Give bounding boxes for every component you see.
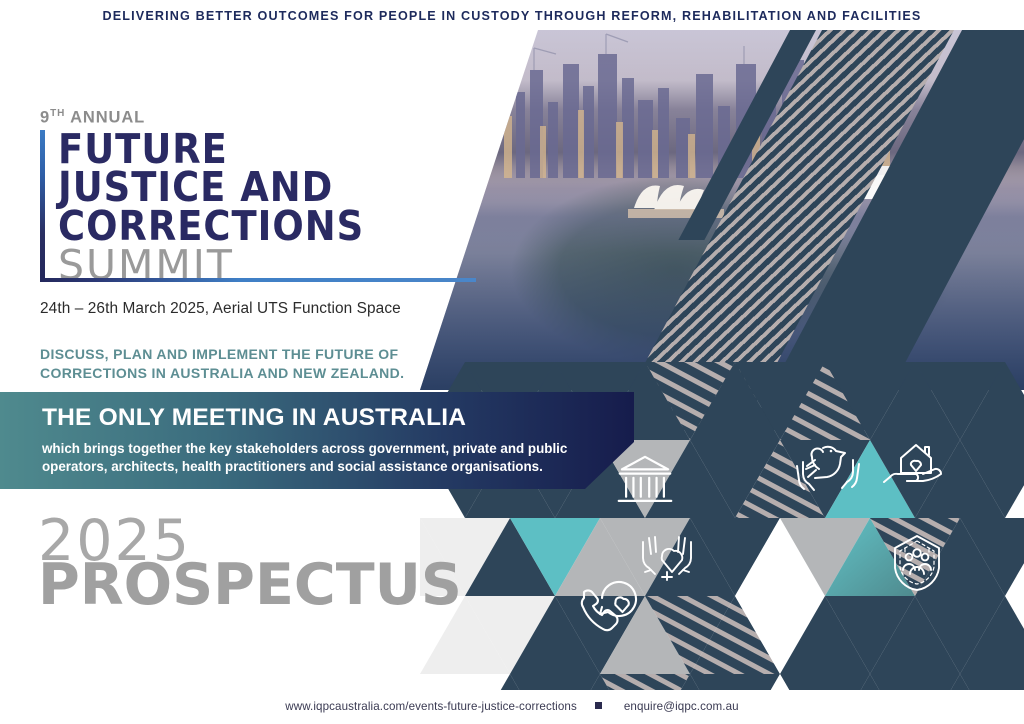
logo-line-2: JUSTICE AND [58, 168, 480, 207]
annual-word: ANNUAL [65, 109, 145, 127]
event-dateline: 24th – 26th March 2025, Aerial UTS Funct… [40, 300, 401, 318]
annual-ordinal: TH [50, 108, 65, 119]
strapline: DELIVERING BETTER OUTCOMES FOR PEOPLE IN… [0, 9, 1024, 23]
footer-url[interactable]: www.iqpcaustralia.com/events-future-just… [285, 700, 577, 713]
annual-number: 9 [40, 109, 50, 127]
footer-separator-square [595, 702, 602, 709]
prospectus-word: PROSPECTUS [38, 552, 462, 618]
tagline-line1: DISCUSS, PLAN AND IMPLEMENT THE FUTURE O… [40, 346, 398, 362]
tagline-line2: CORRECTIONS IN AUSTRALIA AND NEW ZEALAND… [40, 365, 404, 381]
logo-accent-bar [40, 130, 45, 278]
event-tagline: DISCUSS, PLAN AND IMPLEMENT THE FUTURE O… [40, 345, 404, 383]
event-logo: 9TH ANNUAL FUTURE JUSTICE AND CORRECTION… [40, 108, 480, 286]
footer: www.iqpcaustralia.com/events-future-just… [0, 700, 1024, 713]
banner-body-line2: operators, architects, health practition… [42, 459, 543, 474]
banner: THE ONLY MEETING IN AUSTRALIA which brin… [0, 392, 634, 489]
logo-line-3: CORRECTIONS [58, 207, 480, 246]
prospectus-cover: DELIVERING BETTER OUTCOMES FOR PEOPLE IN… [0, 0, 1024, 724]
footer-email[interactable]: enquire@iqpc.com.au [624, 700, 739, 713]
banner-heading: THE ONLY MEETING IN AUSTRALIA [42, 404, 466, 432]
banner-body-line1: which brings together the key stakeholde… [42, 441, 567, 456]
banner-body: which brings together the key stakeholde… [42, 440, 602, 476]
logo-underline [40, 278, 476, 282]
